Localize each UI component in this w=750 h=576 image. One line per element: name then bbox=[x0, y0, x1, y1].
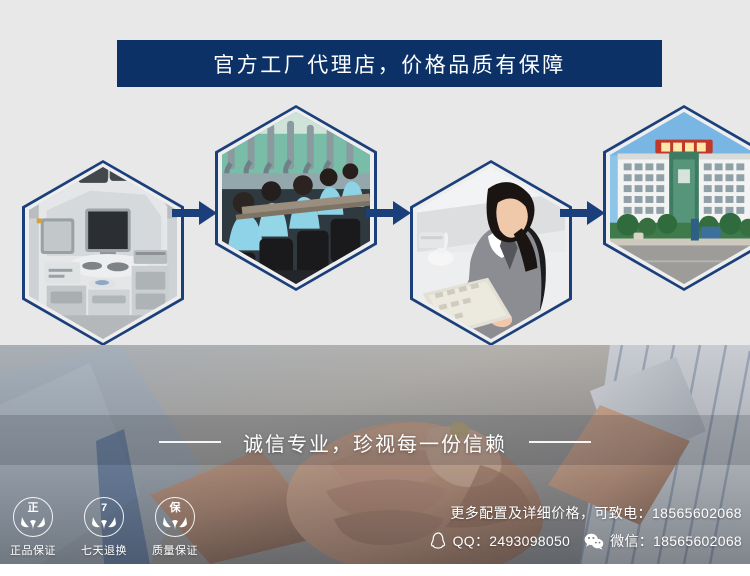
badge-authentic: 正 正品保证 bbox=[4, 497, 62, 561]
top-section: 官方工厂代理店，价格品质有保障 bbox=[0, 0, 750, 345]
tagline-rule-right bbox=[529, 441, 591, 443]
hands-holding-icon: 正 bbox=[13, 497, 53, 537]
qq-number: QQ：2493098050 bbox=[453, 531, 571, 551]
badge-quality: 保 质量保证 bbox=[146, 497, 204, 561]
badge-label: 七天退换 bbox=[81, 542, 127, 558]
bottom-section: 诚信专业，珍视每一份信赖 正 正品保证 7 bbox=[0, 345, 750, 564]
wechat-number: 微信：18565602068 bbox=[610, 531, 742, 551]
qq-penguin-icon bbox=[430, 532, 447, 550]
header-banner: 官方工厂代理店，价格品质有保障 bbox=[117, 40, 662, 87]
hands-holding-icon: 保 bbox=[155, 497, 195, 537]
contact-im-line: QQ：2493098050 微信：18565602068 bbox=[430, 531, 742, 551]
badge-label: 质量保证 bbox=[152, 542, 198, 558]
tagline-rule-left bbox=[159, 441, 221, 443]
process-flow bbox=[0, 100, 750, 325]
flow-step-assembly bbox=[215, 105, 377, 291]
guarantee-badges: 正 正品保证 7 七 bbox=[4, 497, 214, 561]
wechat-icon bbox=[584, 533, 604, 550]
flow-step-equipment bbox=[22, 160, 184, 346]
badge-glyph: 正 bbox=[14, 502, 52, 514]
flow-step-service bbox=[410, 160, 572, 346]
contact-block: 更多配置及详细价格，可致电：18565602068 QQ：2493098050 bbox=[430, 503, 742, 551]
hands-holding-icon: 7 bbox=[84, 497, 124, 537]
arrow-2 bbox=[366, 198, 412, 228]
badge-seven-day-return: 7 七天退换 bbox=[75, 497, 133, 561]
tagline-text: 诚信专业，珍视每一份信赖 bbox=[243, 428, 507, 457]
badge-label: 正品保证 bbox=[10, 542, 56, 558]
arrow-3 bbox=[560, 198, 606, 228]
badge-glyph: 7 bbox=[85, 502, 123, 514]
contact-phone-line: 更多配置及详细价格，可致电：18565602068 bbox=[430, 503, 742, 523]
page-title: 官方工厂代理店，价格品质有保障 bbox=[213, 49, 566, 79]
flow-step-building bbox=[603, 105, 750, 291]
tagline-row: 诚信专业，珍视每一份信赖 bbox=[0, 427, 750, 457]
arrow-1 bbox=[172, 198, 218, 228]
badge-glyph: 保 bbox=[156, 502, 194, 514]
product-detail-banner: 官方工厂代理店，价格品质有保障 bbox=[0, 0, 750, 576]
footer-spacer bbox=[0, 564, 750, 576]
